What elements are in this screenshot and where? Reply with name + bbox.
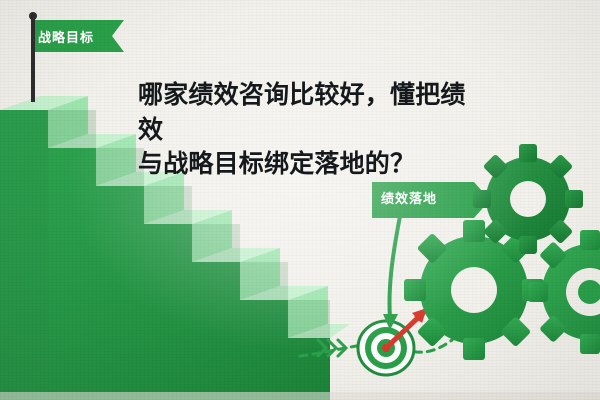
poster-illustration xyxy=(0,0,600,400)
flag-label: 战略目标 xyxy=(38,27,94,46)
headline-line-2: 与战略目标绑定落地的？ xyxy=(138,147,468,182)
gear-upper-icon xyxy=(473,144,583,254)
page-title: 哪家绩效咨询比较好，懂把绩效 与战略目标绑定落地的？ xyxy=(138,78,468,182)
gear-right-icon xyxy=(528,230,600,354)
banner-label: 绩效落地 xyxy=(381,188,437,207)
strategy-flag xyxy=(29,12,124,102)
poster-canvas: 哪家绩效咨询比较好，懂把绩效 与战略目标绑定落地的？ 战略目标 绩效落地 xyxy=(0,0,600,400)
curved-arrow xyxy=(383,216,400,330)
headline-line-1: 哪家绩效咨询比较好，懂把绩效 xyxy=(138,80,466,144)
